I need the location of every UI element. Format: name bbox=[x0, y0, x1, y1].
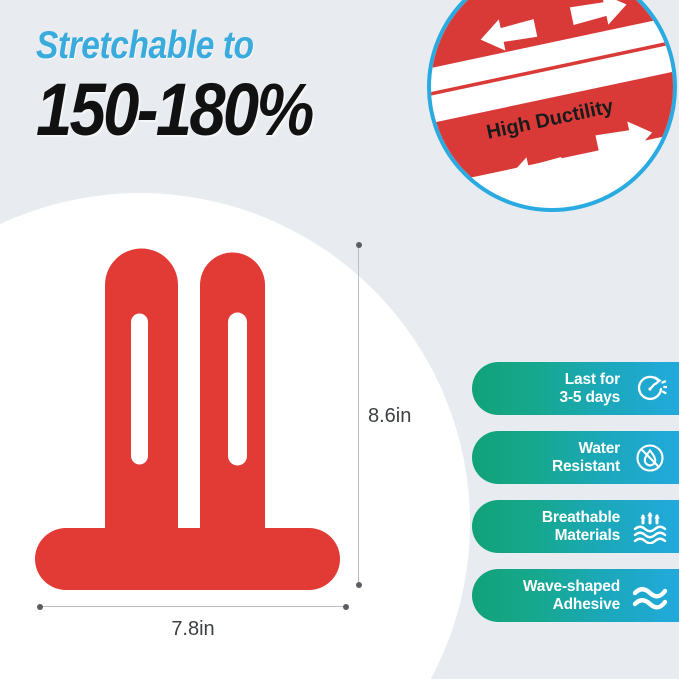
dimension-dot-top bbox=[356, 242, 362, 248]
badge-wave-shaped-adhesive[interactable]: Wave-shaped Adhesive bbox=[472, 569, 679, 622]
dimension-dot-left bbox=[37, 604, 43, 610]
infographic-canvas: Stretchable to 150-180% 8.6in 7.8in bbox=[0, 0, 679, 679]
stopwatch-icon bbox=[629, 368, 671, 410]
dimension-width-label: 7.8in bbox=[0, 618, 386, 641]
badge-breathable-materials[interactable]: Breathable Materials bbox=[472, 500, 679, 553]
water-resistant-icon bbox=[629, 437, 671, 479]
dimension-dot-right bbox=[343, 604, 349, 610]
arrow-left-icon bbox=[505, 150, 566, 193]
headline-line-2: 150-180% bbox=[36, 73, 388, 147]
ductility-inset-content: High Ductility bbox=[427, 0, 677, 212]
badge-water-resistant[interactable]: Water Resistant bbox=[472, 431, 679, 484]
headline-block: Stretchable to 150-180% bbox=[36, 26, 436, 147]
headline-line-1: Stretchable to bbox=[36, 26, 380, 67]
dimension-dot-bottom bbox=[356, 582, 362, 588]
feature-badge-list: Last for 3-5 days Water Resistant bbox=[472, 362, 679, 638]
wave-icon bbox=[629, 575, 671, 617]
ductility-inset-circle: High Ductility bbox=[427, 0, 677, 212]
arrow-right-icon bbox=[568, 0, 629, 32]
dimension-line-vertical bbox=[358, 245, 359, 585]
dimension-line-horizontal bbox=[40, 606, 346, 607]
badge-label: Wave-shaped Adhesive bbox=[523, 578, 620, 613]
arrow-left-icon bbox=[477, 12, 538, 55]
badge-label: Water Resistant bbox=[552, 440, 620, 475]
breathable-icon bbox=[629, 506, 671, 548]
badge-last-for-days[interactable]: Last for 3-5 days bbox=[472, 362, 679, 415]
badge-label: Breathable Materials bbox=[542, 509, 620, 544]
badge-label: Last for 3-5 days bbox=[560, 371, 620, 406]
dimension-height-label: 8.6in bbox=[368, 405, 411, 428]
